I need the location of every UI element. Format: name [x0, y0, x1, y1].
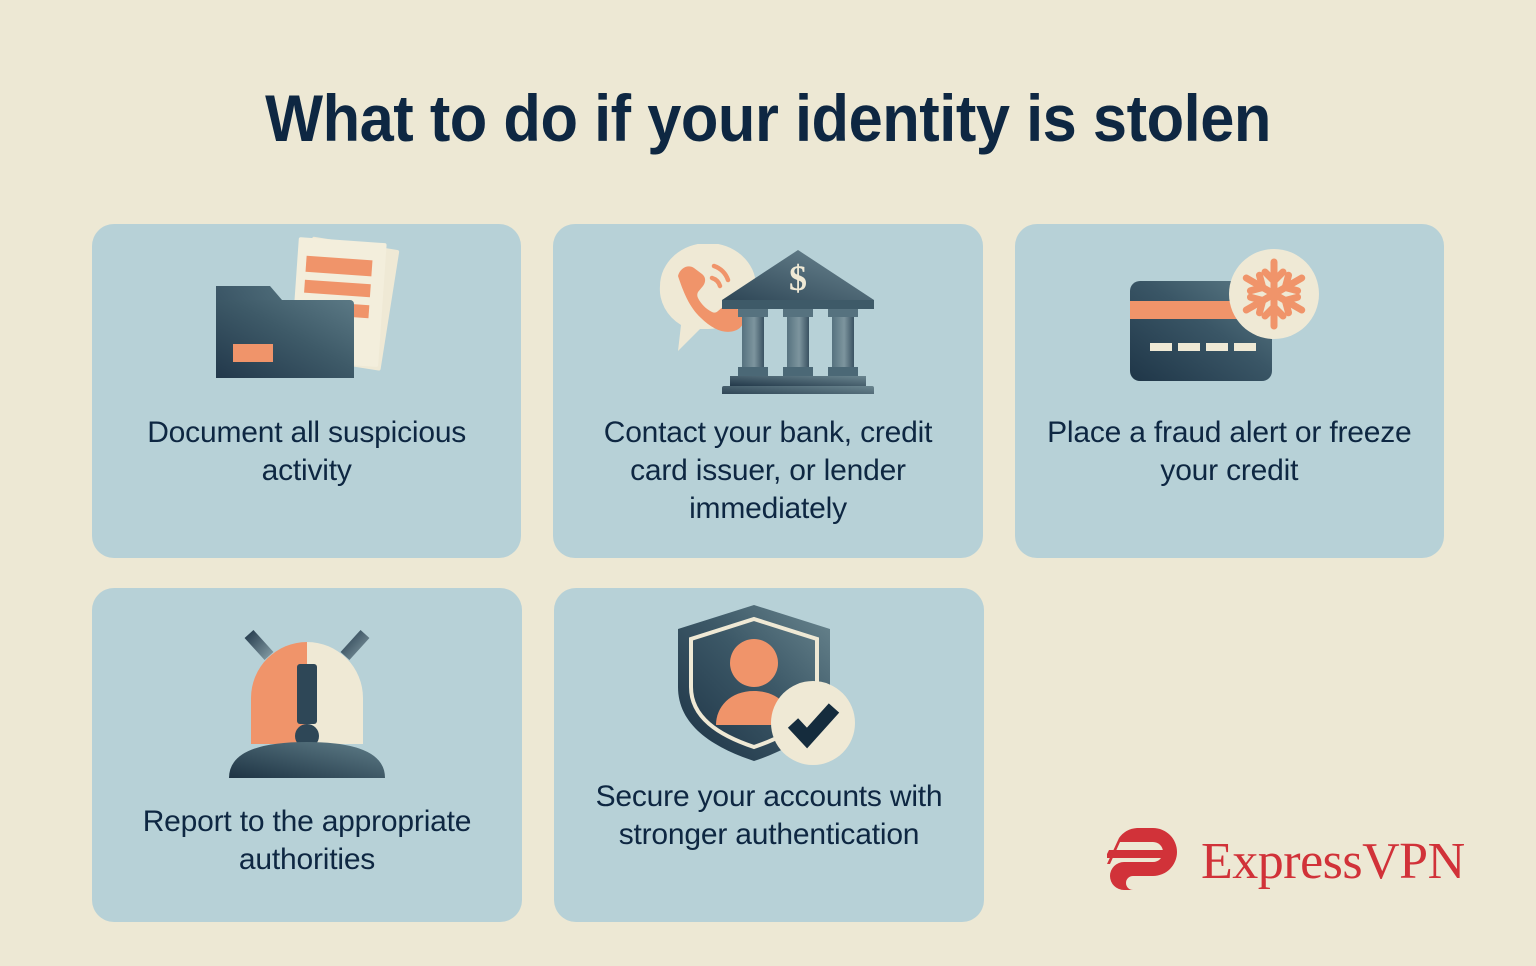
card-document-activity[interactable]: Document all suspicious activity [92, 224, 521, 558]
expressvpn-logo[interactable]: ExpressVPN [1107, 826, 1465, 897]
bank-phone-call-icon: $ [575, 224, 960, 414]
card-label: Secure your accounts with stronger authe… [576, 778, 962, 854]
page-title: What to do if your identity is stolen [54, 84, 1482, 153]
cards-row-1: Document all suspicious activity [92, 224, 1444, 558]
card-label: Report to the appropriate authorities [114, 803, 500, 879]
expressvpn-wordmark: ExpressVPN [1201, 836, 1465, 888]
expressvpn-e-mark-icon [1107, 826, 1185, 897]
card-contact-bank[interactable]: $ [553, 224, 982, 558]
card-fraud-alert[interactable]: Place a fraud alert or freeze your credi… [1015, 224, 1444, 558]
infographic-page: What to do if your identity is stolen [0, 0, 1536, 966]
svg-text:$: $ [789, 258, 807, 298]
card-secure-accounts[interactable]: Secure your accounts with stronger authe… [554, 588, 984, 922]
folder-documents-icon [114, 224, 499, 414]
cards-grid: Document all suspicious activity [92, 224, 1444, 922]
shield-user-check-icon [576, 588, 962, 778]
card-label: Contact your bank, credit card issuer, o… [575, 414, 960, 528]
card-label: Place a fraud alert or freeze your credi… [1037, 414, 1422, 490]
siren-alert-icon [114, 588, 500, 803]
card-label: Document all suspicious activity [114, 414, 499, 490]
card-report-authorities[interactable]: Report to the appropriate authorities [92, 588, 522, 922]
credit-card-freeze-icon [1037, 224, 1422, 414]
